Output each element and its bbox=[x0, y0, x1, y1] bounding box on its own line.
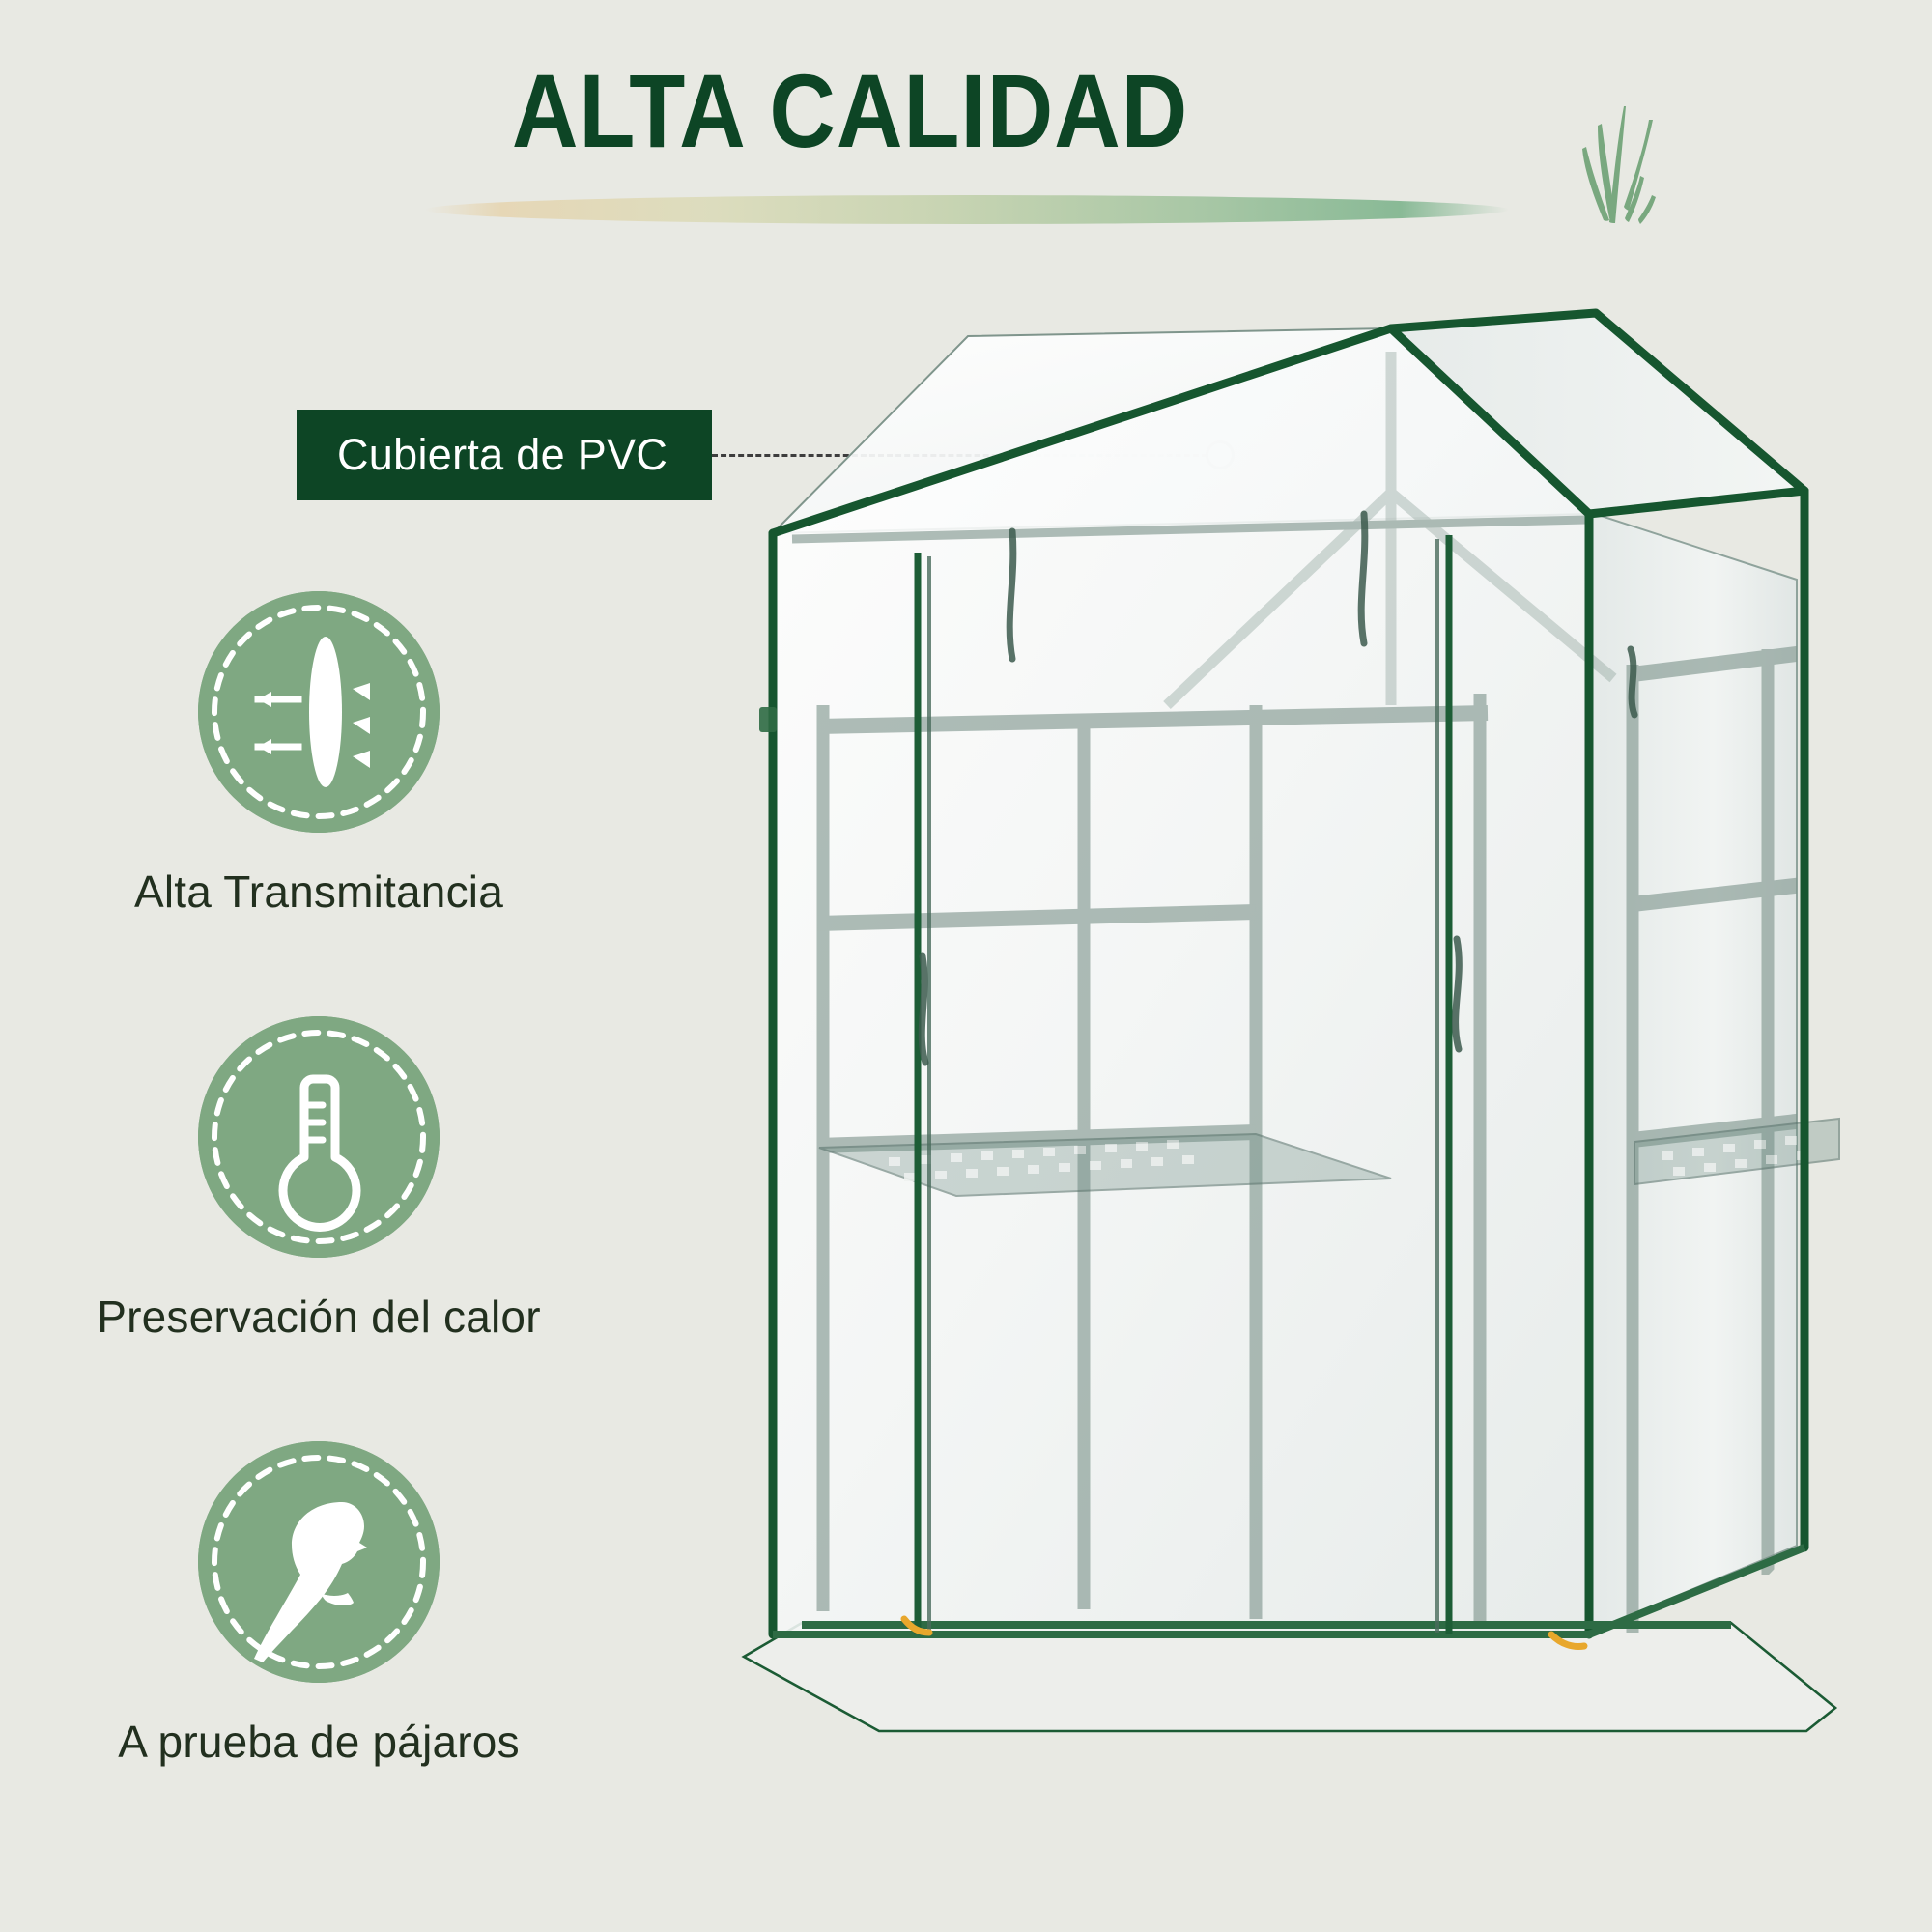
feature-item-bird-proof: A prueba de pájaros bbox=[0, 1441, 638, 1768]
feature-badge bbox=[198, 1441, 440, 1683]
feature-label: Alta Transmitancia bbox=[0, 866, 638, 918]
callout-label-pvc-cover: Cubierta de PVC bbox=[297, 410, 712, 500]
callout-label-text: Cubierta de PVC bbox=[337, 430, 668, 480]
page-title: ALTA CALIDAD bbox=[102, 50, 1599, 171]
bird-icon bbox=[198, 1441, 440, 1683]
grass-icon bbox=[1573, 95, 1689, 230]
light-transmittance-lens-icon bbox=[198, 591, 440, 833]
feature-item-transmittance: Alta Transmitancia bbox=[0, 591, 638, 918]
greenhouse-base-skirt bbox=[744, 1623, 1835, 1731]
feature-item-heat-preservation: Preservación del calor bbox=[0, 1016, 638, 1343]
feature-label: Preservación del calor bbox=[0, 1291, 638, 1343]
title-underline-decor bbox=[425, 195, 1509, 224]
greenhouse-side-vent bbox=[759, 707, 777, 732]
feature-label: A prueba de pájaros bbox=[0, 1716, 638, 1768]
infographic-page: ALTA CALIDAD Cubierta de PVC bbox=[0, 0, 1932, 1932]
feature-badge bbox=[198, 1016, 440, 1258]
feature-badge bbox=[198, 591, 440, 833]
thermometer-icon bbox=[198, 1016, 440, 1258]
product-image-greenhouse bbox=[715, 290, 1855, 1797]
